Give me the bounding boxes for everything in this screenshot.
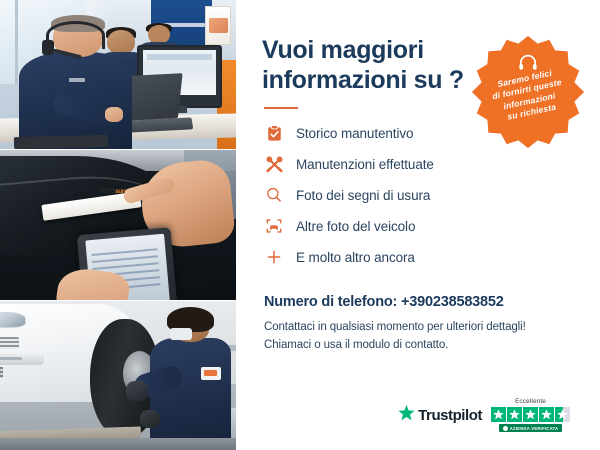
monitor-screen-toolbar — [147, 54, 212, 59]
title-divider — [264, 107, 298, 109]
list-item-label: Altre foto del veicolo — [296, 219, 415, 234]
clipboard-check-icon — [264, 123, 284, 143]
trustpilot-rating[interactable]: Eccellente — [491, 398, 570, 432]
vehicle-info-ad-banner: AUTOsure — [0, 0, 600, 450]
headset-icon — [518, 54, 538, 70]
trustpilot-star-icon — [398, 405, 415, 426]
magnifier-icon — [264, 185, 284, 205]
list-item-label: Foto dei segni di usura — [296, 188, 430, 203]
contact-note-line-2: Chiamaci o usa il modulo di contatto. — [264, 337, 576, 355]
contact-note-line-1: Contattaci in qualsiasi momento per ulte… — [264, 319, 576, 337]
phone-number-line[interactable]: Numero di telefono: +390238583852 — [264, 294, 576, 310]
torso — [150, 338, 232, 450]
contact-note: Contattaci in qualsiasi momento per ulte… — [264, 319, 576, 355]
verified-label: AZIENDA VERIFICATA — [510, 426, 559, 431]
call-center-operators-photo — [0, 0, 236, 149]
car-scan-icon — [264, 216, 284, 236]
mechanic-figure — [146, 307, 231, 450]
star-filled — [539, 407, 554, 422]
verified-check-icon — [503, 426, 508, 431]
polo-logo — [69, 78, 85, 82]
trustpilot-logo[interactable]: Trustpilot — [398, 405, 482, 426]
plus-icon — [264, 247, 284, 267]
request-info-badge: Saremo felici di fornirti queste informa… — [470, 34, 586, 150]
phone-number[interactable]: +390238583852 — [401, 294, 504, 310]
hand — [105, 107, 123, 121]
uniform-badge — [201, 367, 221, 380]
front-bumper — [0, 353, 44, 365]
list-item: Altre foto del veicolo — [264, 216, 576, 236]
headline-line-2: informazioni su ? — [262, 66, 464, 94]
glove-lower — [140, 410, 160, 429]
keyboard — [14, 135, 109, 149]
rating-label: Eccellente — [515, 398, 546, 405]
glove-upper — [126, 381, 148, 401]
garage-floor — [0, 438, 236, 450]
list-item-label: Storico manutentivo — [296, 126, 413, 141]
star-half — [555, 407, 570, 422]
star-filled — [523, 407, 538, 422]
list-item-label: E molto altro ancora — [296, 250, 415, 265]
phone-label: Numero di telefono: — [264, 294, 397, 310]
trustpilot-widget[interactable]: Trustpilot Eccellente — [262, 398, 576, 436]
trustpilot-brand-name: Trustpilot — [418, 407, 482, 424]
mechanic-wheel-check-photo — [0, 301, 236, 450]
headset-band — [46, 21, 105, 50]
list-item: Foto dei segni di usura — [264, 185, 576, 205]
vehicle-inspection-gauge-photo: AUTOsure — [0, 150, 236, 299]
star-filled — [507, 407, 522, 422]
crossed-tools-icon — [264, 154, 284, 174]
headline-line-1: Vuoi maggiori — [262, 36, 424, 64]
lower-air-vent — [0, 367, 3, 378]
badge-content: Saremo felici di fornirti queste informa… — [470, 34, 586, 150]
list-item: E molto altro ancora — [264, 247, 576, 267]
star-rating — [491, 407, 570, 422]
wall-poster — [205, 6, 231, 45]
list-item: Manutenzioni effettuate — [264, 154, 576, 174]
contact-block: Numero di telefono: +390238583852 Contat… — [264, 294, 576, 355]
list-item-label: Manutenzioni effettuate — [296, 157, 434, 172]
foreground-operator — [19, 18, 132, 149]
page-title: Vuoi maggiori informazioni su ? — [262, 36, 477, 95]
headlight — [0, 312, 26, 329]
content-panel: Saremo felici di fornirti queste informa… — [236, 0, 600, 450]
photo-column: AUTOsure — [0, 0, 236, 450]
star-filled — [491, 407, 506, 422]
headset-earcup — [42, 40, 54, 54]
verified-business-badge: AZIENDA VERIFICATA — [499, 424, 563, 432]
face-mask — [170, 328, 192, 339]
front-grille — [0, 337, 19, 349]
badge-text: Saremo felici di fornirti queste informa… — [489, 66, 568, 126]
